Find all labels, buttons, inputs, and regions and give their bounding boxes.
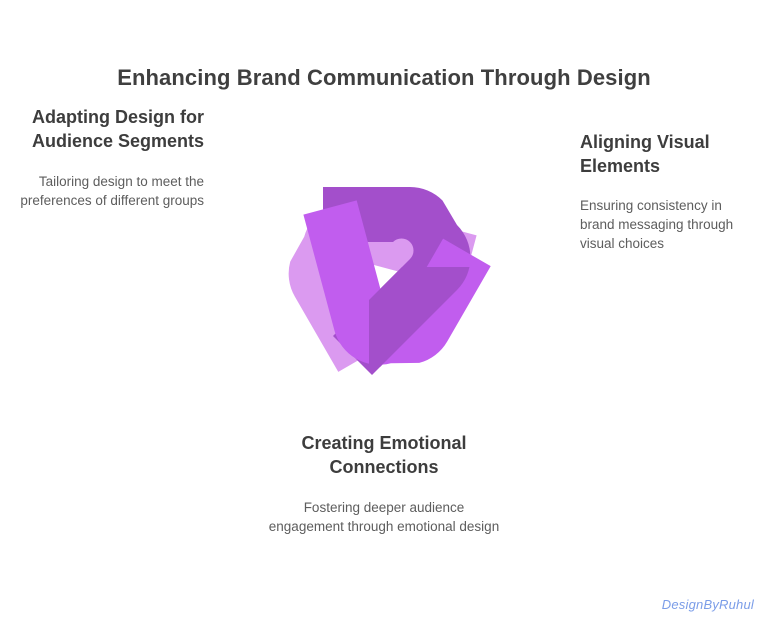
callout-adapting-design: Adapting Design for Audience Segments Ta…: [18, 106, 204, 210]
watermark: DesignByRuhul: [662, 597, 754, 612]
callout-bottom-body: Fostering deeper audience engagement thr…: [268, 498, 500, 536]
trefoil-logo-icon: [219, 117, 549, 432]
infographic-canvas: Enhancing Brand Communication Through De…: [0, 0, 768, 624]
callout-bottom-heading: Creating Emotional Connections: [268, 432, 500, 480]
callout-left-heading: Adapting Design for Audience Segments: [18, 106, 204, 154]
callout-creating-emotional: Creating Emotional Connections Fostering…: [268, 432, 500, 536]
callout-aligning-visual: Aligning Visual Elements Ensuring consis…: [580, 131, 755, 253]
brand-logo: [219, 117, 549, 432]
callout-right-heading: Aligning Visual Elements: [580, 131, 755, 179]
page-title: Enhancing Brand Communication Through De…: [0, 65, 768, 91]
callout-left-body: Tailoring design to meet the preferences…: [18, 172, 204, 210]
callout-right-body: Ensuring consistency in brand messaging …: [580, 196, 755, 253]
